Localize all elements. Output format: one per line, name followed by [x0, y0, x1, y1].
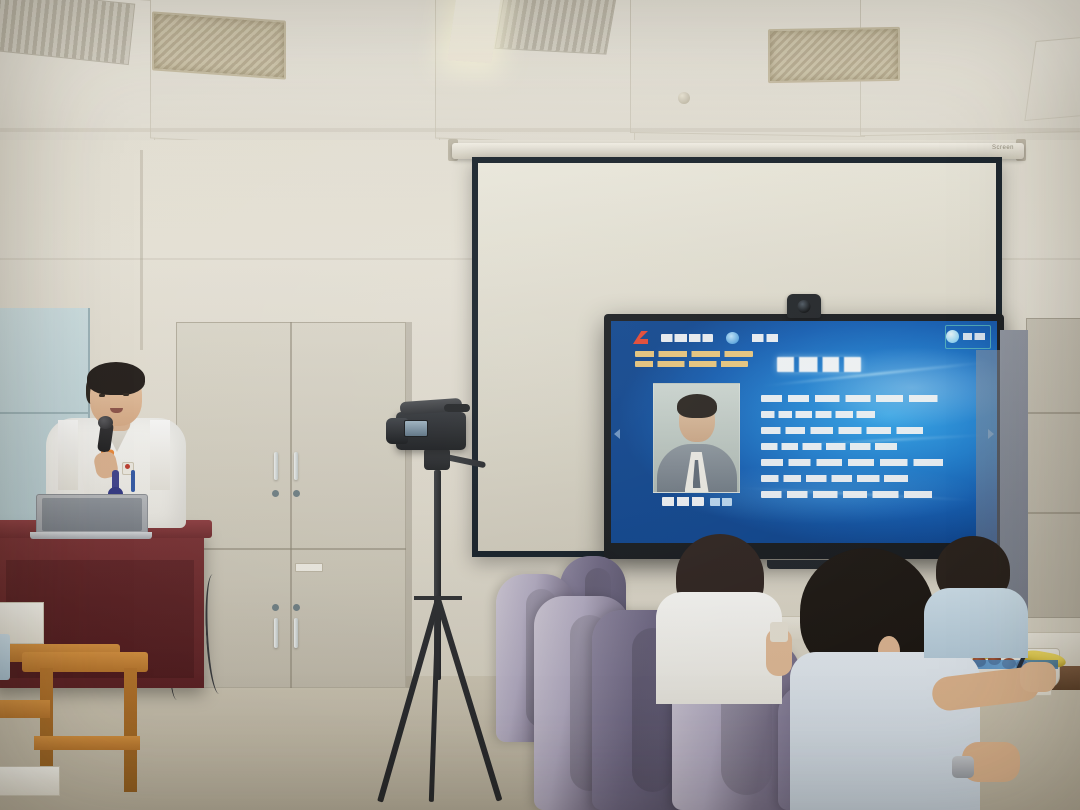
slide-bullet-3: [761, 427, 937, 434]
corner-logo-text: [963, 333, 985, 340]
slide-bullet-6: [761, 475, 921, 482]
cabinet-lock[interactable]: [293, 604, 300, 611]
water-bottle-floor[interactable]: [0, 634, 10, 680]
paper-stack[interactable]: [0, 766, 60, 796]
presenter-name-caption: [647, 497, 747, 506]
wooden-chair-rail: [34, 736, 140, 750]
slide-subtitle-line-1: [635, 351, 753, 357]
tripod-head: [424, 448, 450, 470]
cabinet-lock[interactable]: [293, 490, 300, 497]
attendee-cup: [770, 622, 788, 642]
sponsor-logo-blue-icon: [726, 332, 739, 344]
laptop-base: [30, 532, 152, 539]
slide-bullet-7: [761, 491, 947, 498]
slide-subtitle: [635, 351, 753, 371]
air-vent-diffuser: [768, 27, 900, 83]
video-conference-camera-icon: [787, 294, 821, 318]
cabinet-label-plate: [295, 563, 323, 572]
wooden-chair-seat: [0, 700, 50, 718]
slide-subtitle-line-2: [635, 361, 748, 367]
cabinet-handle[interactable]: [274, 452, 278, 480]
cabinet-handle[interactable]: [294, 618, 298, 648]
badge-emblem-icon: [125, 464, 130, 469]
presenter-name-text: [662, 497, 704, 506]
air-vent-diffuser: [152, 11, 286, 79]
corner-logo: [946, 330, 985, 343]
sponsor-logo-red-icon: [633, 331, 648, 344]
cabinet-lock[interactable]: [272, 490, 279, 497]
cabinet-handle[interactable]: [294, 452, 298, 480]
laptop-computer[interactable]: [36, 494, 148, 536]
slide-bullet-1: [761, 395, 953, 402]
slide-title: [777, 357, 861, 372]
ceiling: [0, 0, 1080, 150]
slide-bullet-4: [761, 443, 909, 450]
conference-room-photo: Screen: [0, 0, 1080, 810]
pocket-pen: [131, 470, 135, 492]
camcorder-microphone: [444, 404, 470, 412]
attendee-man-hand: [1020, 662, 1056, 692]
tv-screen: [611, 321, 997, 543]
cabinet-lock[interactable]: [272, 604, 279, 611]
presenter-portrait-photo: [653, 383, 740, 493]
air-vent-grille: [494, 0, 617, 55]
presenter-title-text: [710, 498, 732, 506]
sprinkler-head: [678, 92, 690, 104]
slide-bullet-2: [761, 411, 885, 418]
speaker-hair: [87, 362, 145, 395]
sponsor-logo-red-text: [661, 334, 713, 342]
slide-header-logos: [633, 331, 778, 344]
attendee-back-row-body: [924, 588, 1028, 658]
wristwatch: [952, 756, 974, 778]
attendee-woman-white-top: [656, 592, 782, 704]
grey-lockers[interactable]: [1026, 318, 1080, 618]
roller-brand-label: Screen: [992, 145, 1014, 151]
microphone-head[interactable]: [98, 416, 113, 429]
fluorescent-light: [447, 0, 500, 63]
conference-tv-display[interactable]: [604, 314, 1004, 559]
sponsor-logo-blue-text: [752, 334, 778, 342]
camcorder-lcd-screen: [404, 420, 428, 437]
wooden-chair-leg: [124, 668, 137, 792]
corner-logo-icon: [946, 330, 959, 343]
tripod-spreader: [414, 596, 462, 600]
cabinet-handle[interactable]: [274, 618, 278, 648]
slide-bullet-5: [761, 459, 959, 466]
chevron-left-icon[interactable]: [614, 429, 620, 439]
laptop-screen: [42, 498, 142, 531]
slide-bullet-list: [761, 395, 961, 507]
